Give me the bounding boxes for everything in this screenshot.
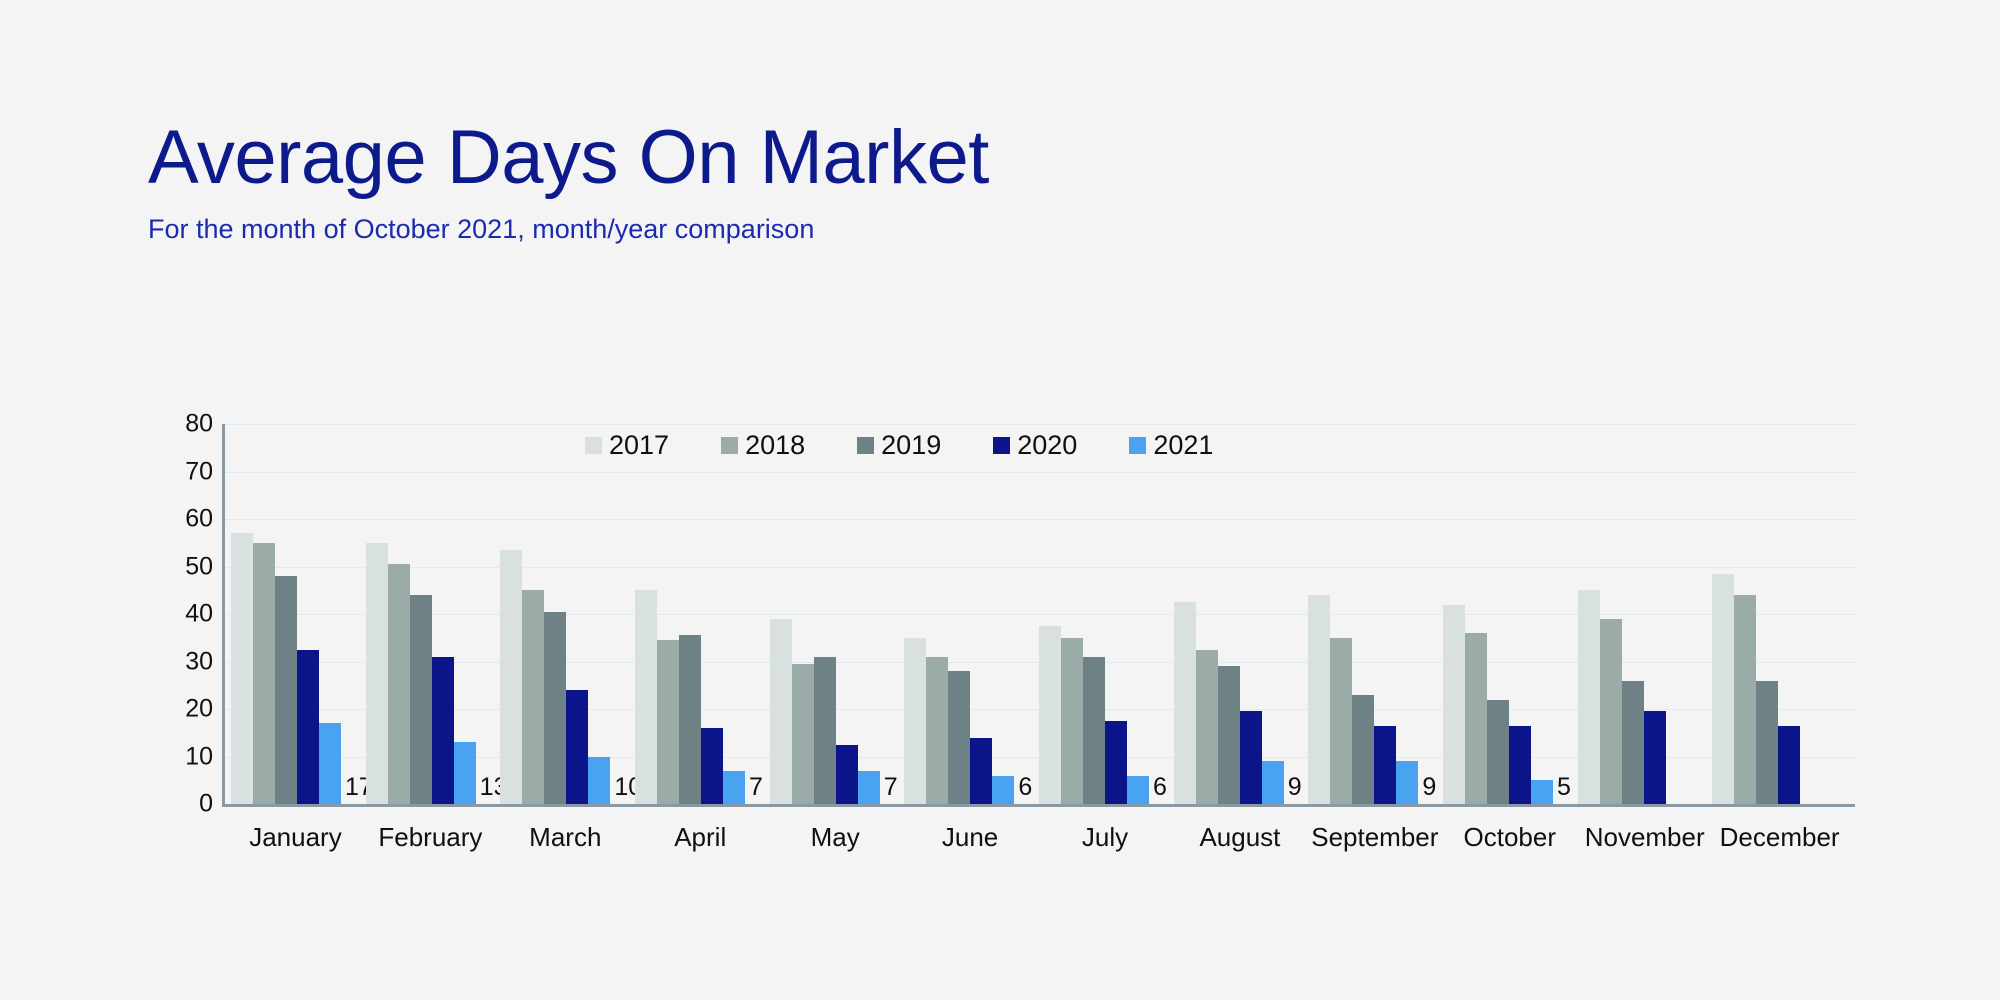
x-axis-tick-june: June [903,822,1038,853]
bar-2021-may[interactable]: 7 [858,771,880,804]
bar-2019-september[interactable] [1352,695,1374,804]
bar-2019-april[interactable] [679,635,701,804]
bar-2017-august[interactable] [1174,602,1196,804]
bar-2017-june[interactable] [904,638,926,804]
bar-2020-june[interactable] [970,738,992,805]
bar-value-label: 7 [884,775,898,800]
bar-2020-october[interactable] [1509,726,1531,804]
bar-2019-june[interactable] [948,671,970,804]
bar-2019-october[interactable] [1487,700,1509,805]
bar-2017-february[interactable] [366,543,388,804]
x-axis-tick-may: May [768,822,903,853]
y-axis-tick-label: 0 [199,790,213,819]
y-axis-tick-label: 10 [185,742,213,771]
legend-swatch-icon [1129,437,1146,454]
x-axis-tick-december: December [1712,822,1847,853]
legend-item-2019[interactable]: 2019 [857,432,941,459]
x-axis-tick-august: August [1172,822,1307,853]
bar-2018-june[interactable] [926,657,948,804]
bar-2020-november[interactable] [1644,711,1666,804]
bar-2020-february[interactable] [432,657,454,804]
bar-2020-january[interactable] [297,650,319,804]
bar-group-january: 17 [231,424,366,804]
bar-2019-january[interactable] [275,576,297,804]
bar-2017-october[interactable] [1443,605,1465,805]
bar-group-november [1578,424,1713,804]
bar-2021-october[interactable]: 5 [1531,780,1553,804]
x-axis-tick-november: November [1577,822,1712,853]
bar-2019-may[interactable] [814,657,836,804]
bar-2020-april[interactable] [701,728,723,804]
x-axis-tick-october: October [1442,822,1577,853]
bar-value-label: 7 [749,775,763,800]
legend-label: 2020 [1017,432,1077,459]
bar-chart: 80706050403020100 20172018201920202021 1… [155,424,1855,844]
bar-2020-august[interactable] [1240,711,1262,804]
page-title: Average Days On Market [148,120,1448,196]
bar-2017-january[interactable] [231,533,253,804]
legend-swatch-icon [585,437,602,454]
y-axis-tick-label: 80 [185,410,213,439]
bar-group-september: 9 [1308,424,1443,804]
x-axis-tick-february: February [363,822,498,853]
bar-2018-october[interactable] [1465,633,1487,804]
bar-2017-march[interactable] [500,550,522,804]
bar-value-label: 6 [1018,775,1032,800]
bar-2021-august[interactable]: 9 [1262,761,1284,804]
legend-swatch-icon [993,437,1010,454]
bar-group-march: 10 [500,424,635,804]
bar-2018-december[interactable] [1734,595,1756,804]
bar-value-label: 5 [1557,775,1571,800]
bar-value-label: 6 [1153,775,1167,800]
bar-2018-march[interactable] [522,590,544,804]
x-axis-tick-january: January [228,822,363,853]
bar-2019-july[interactable] [1083,657,1105,804]
y-axis-tick-label: 60 [185,505,213,534]
legend-item-2021[interactable]: 2021 [1129,432,1213,459]
legend-item-2018[interactable]: 2018 [721,432,805,459]
legend-item-2017[interactable]: 2017 [585,432,669,459]
bar-2019-february[interactable] [410,595,432,804]
bar-2018-august[interactable] [1196,650,1218,804]
bar-2021-june[interactable]: 6 [992,776,1014,805]
legend-label: 2021 [1153,432,1213,459]
chart-header: Average Days On Market For the month of … [148,120,1448,245]
x-axis-tick-april: April [633,822,768,853]
y-axis-tick-label: 70 [185,457,213,486]
bar-2020-july[interactable] [1105,721,1127,804]
y-axis-tick-label: 30 [185,647,213,676]
bar-value-label: 9 [1422,775,1436,800]
bar-2018-november[interactable] [1600,619,1622,804]
bar-2020-december[interactable] [1778,726,1800,804]
bar-group-may: 7 [770,424,905,804]
bar-group-february: 13 [366,424,501,804]
bar-group-july: 6 [1039,424,1174,804]
bar-2017-july[interactable] [1039,626,1061,804]
bar-2018-september[interactable] [1330,638,1352,804]
legend-item-2020[interactable]: 2020 [993,432,1077,459]
bar-2018-february[interactable] [388,564,410,804]
x-axis-tick-september: September [1307,822,1442,853]
bar-group-august: 9 [1174,424,1309,804]
legend-swatch-icon [721,437,738,454]
legend-label: 2018 [745,432,805,459]
bar-2021-september[interactable]: 9 [1396,761,1418,804]
chart-legend: 20172018201920202021 [585,432,1213,459]
bar-2017-may[interactable] [770,619,792,804]
bar-group-december [1712,424,1847,804]
bar-group-june: 6 [904,424,1039,804]
bar-2018-may[interactable] [792,664,814,804]
bar-2018-april[interactable] [657,640,679,804]
bar-2017-november[interactable] [1578,590,1600,804]
bar-2021-april[interactable]: 7 [723,771,745,804]
bar-2017-april[interactable] [635,590,657,804]
y-axis: 80706050403020100 [155,424,217,804]
bar-2019-december[interactable] [1756,681,1778,805]
bar-2019-november[interactable] [1622,681,1644,805]
bar-2017-september[interactable] [1308,595,1330,804]
bar-2018-july[interactable] [1061,638,1083,804]
legend-label: 2019 [881,432,941,459]
bar-2021-july[interactable]: 6 [1127,776,1149,805]
page-subtitle: For the month of October 2021, month/yea… [148,214,1448,245]
bar-2019-march[interactable] [544,612,566,804]
bar-2017-december[interactable] [1712,574,1734,804]
bar-2019-august[interactable] [1218,666,1240,804]
y-axis-tick-label: 40 [185,600,213,629]
bar-group-april: 7 [635,424,770,804]
plot-area: 20172018201920202021 1713107766995 [222,424,1855,807]
bar-2018-january[interactable] [253,543,275,804]
bar-2020-may[interactable] [836,745,858,804]
bar-2021-march[interactable]: 10 [588,757,610,805]
bar-2020-september[interactable] [1374,726,1396,804]
y-axis-tick-label: 50 [185,552,213,581]
legend-swatch-icon [857,437,874,454]
bar-2021-january[interactable]: 17 [319,723,341,804]
x-axis: JanuaryFebruaryMarchAprilMayJuneJulyAugu… [222,822,1855,853]
bar-2021-february[interactable]: 13 [454,742,476,804]
legend-label: 2017 [609,432,669,459]
bar-2020-march[interactable] [566,690,588,804]
bar-value-label: 9 [1288,775,1302,800]
bar-groups: 1713107766995 [225,424,1855,804]
bar-group-october: 5 [1443,424,1578,804]
x-axis-tick-july: July [1038,822,1173,853]
x-axis-tick-march: March [498,822,633,853]
y-axis-tick-label: 20 [185,695,213,724]
